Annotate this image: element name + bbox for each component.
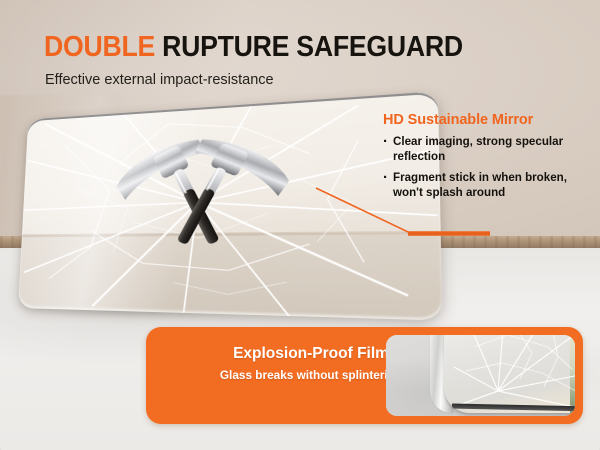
mirror-surface	[18, 91, 442, 320]
page-title-highlight: DOUBLE	[44, 31, 155, 63]
page-title: DOUBLE RUPTURE SAFEGUARD	[44, 33, 463, 62]
list-item: Fragment stick in when broken, won't spl…	[383, 171, 588, 200]
main-mirror-photo	[18, 112, 378, 308]
inset-crack-pattern-icon	[444, 335, 575, 413]
page-subtitle: Effective external impact-resistance	[45, 72, 274, 88]
callout-bullet-list: Clear imaging, strong specular reflectio…	[383, 135, 588, 200]
feature-callout: HD Sustainable Mirror Clear imaging, str…	[383, 112, 588, 207]
inset-photo	[386, 335, 575, 416]
page-title-rest-text: RUPTURE SAFEGUARD	[162, 31, 463, 63]
product-marketing-image: DOUBLE RUPTURE SAFEGUARD Effective exter…	[0, 0, 600, 450]
mirror-edge-bevel	[18, 91, 442, 320]
inset-mirror-surface	[444, 335, 575, 413]
callout-title: HD Sustainable Mirror	[383, 112, 588, 128]
explosion-proof-banner: Explosion-Proof Film Glass breaks withou…	[146, 327, 583, 424]
list-item: Clear imaging, strong specular reflectio…	[383, 135, 588, 164]
